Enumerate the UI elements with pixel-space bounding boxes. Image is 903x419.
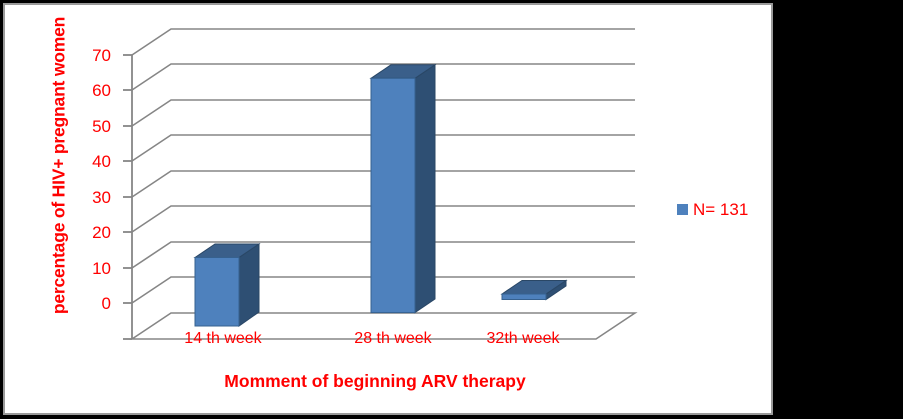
y-tick-label-30: 30: [71, 189, 111, 206]
value-axis: [123, 55, 132, 339]
y-tick-label-0: 0: [71, 295, 111, 312]
x-category-label-3: 32th week: [453, 330, 593, 348]
y-tick-label-10: 10: [71, 260, 111, 277]
bar-3d-32th-week: [502, 281, 566, 300]
y-tick-label-60: 60: [71, 82, 111, 99]
x-category-label-1: 14 th week: [153, 330, 293, 348]
background-fill: [777, 0, 903, 419]
bar-3d-28th-week: [371, 65, 435, 313]
x-axis-title: Momment of beginning ARV therapy: [65, 371, 685, 392]
y-tick-label-20: 20: [71, 224, 111, 241]
legend: N= 131: [677, 201, 748, 218]
chart-figure: percentage of HIV+ pregnant women: [0, 0, 903, 419]
bar-3d-14th-week: [195, 244, 259, 326]
y-tick-label-50: 50: [71, 118, 111, 135]
legend-label: N= 131: [693, 201, 748, 218]
x-category-label-2: 28 th week: [323, 330, 463, 348]
legend-swatch-icon: [677, 204, 688, 215]
chart-panel: percentage of HIV+ pregnant women: [3, 3, 773, 415]
y-tick-label-70: 70: [71, 47, 111, 64]
y-tick-label-40: 40: [71, 153, 111, 170]
plot-area: [5, 5, 771, 413]
